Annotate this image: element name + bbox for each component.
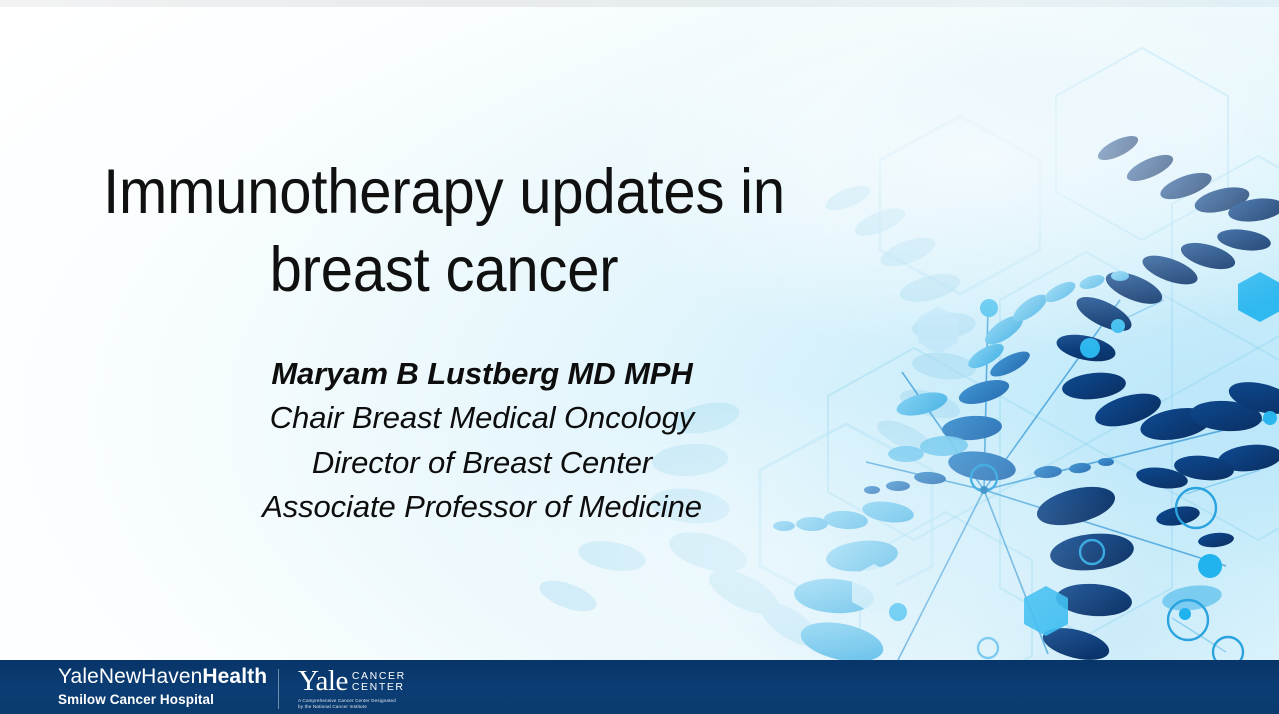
- cancer-center-label: CANCER CENTER: [352, 668, 406, 693]
- ynhh-logo: YaleNewHavenHealth Smilow Cancer Hospita…: [58, 664, 267, 709]
- footer-divider: [278, 669, 279, 709]
- ynhh-wordmark-bold: Health: [202, 665, 267, 688]
- yale-wordmark: Yale: [298, 668, 348, 695]
- presenter-role-3: Associate Professor of Medicine: [24, 485, 940, 529]
- presenter-name: Maryam B Lustberg MD MPH: [24, 352, 940, 396]
- smilow-cancer-hospital-label: Smilow Cancer Hospital: [58, 691, 267, 709]
- presenter-block: Maryam B Lustberg MD MPH Chair Breast Me…: [24, 352, 940, 529]
- ynhh-wordmark-light: YaleNewHaven: [58, 665, 202, 688]
- slide-content: Immunotherapy updates in breast cancer M…: [0, 0, 880, 660]
- footer-branding-bar: YaleNewHavenHealth Smilow Cancer Hospita…: [0, 660, 1279, 714]
- presenter-role-1: Chair Breast Medical Oncology: [24, 396, 940, 440]
- yale-cancer-center-logo: Yale CANCER CENTER A Comprehensive Cance…: [298, 668, 406, 710]
- nci-designation-tagline: A Comprehensive Cancer Center Designated…: [298, 698, 402, 710]
- page-title: Immunotherapy updates in breast cancer: [58, 154, 831, 309]
- cancer-center-line-2: CENTER: [352, 682, 406, 693]
- presentation-slide: Immunotherapy updates in breast cancer M…: [0, 0, 1279, 714]
- presenter-role-2: Director of Breast Center: [24, 441, 940, 485]
- ynhh-wordmark: YaleNewHavenHealth: [58, 664, 267, 690]
